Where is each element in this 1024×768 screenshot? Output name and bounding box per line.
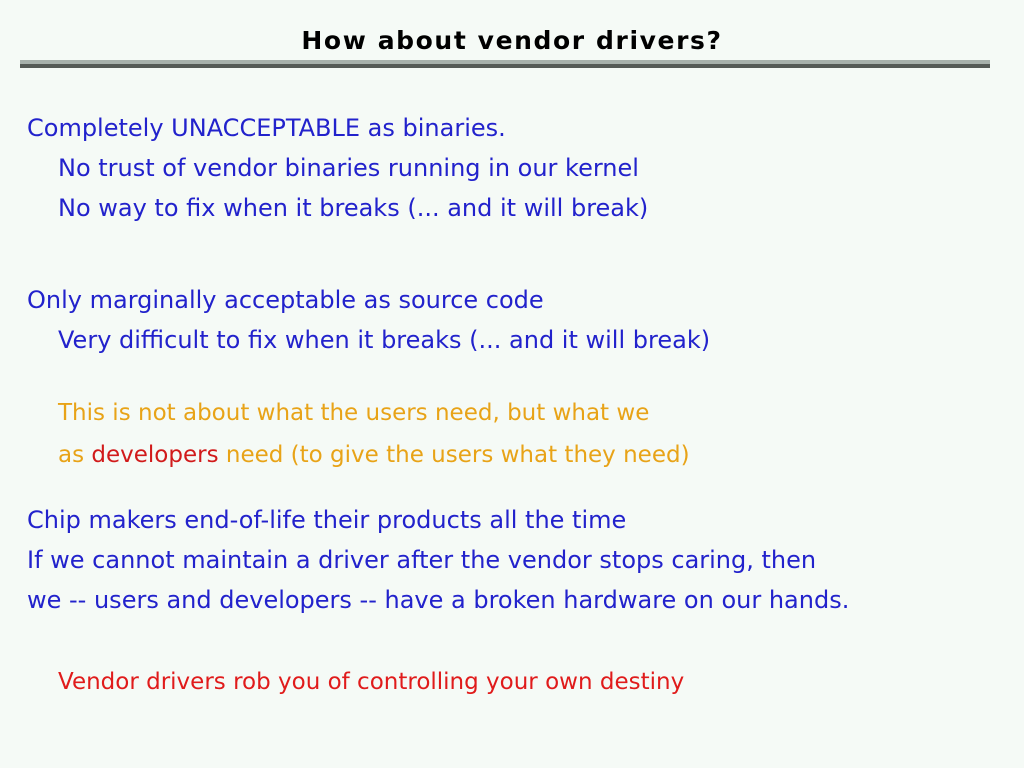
source-code-heading: Only marginally acceptable as source cod…	[0, 280, 1024, 320]
source-code-bullet-1: Very difficult to fix when it breaks (..…	[0, 320, 1024, 360]
unacceptable-bullet-2: No way to fix when it breaks (... and it…	[0, 188, 1024, 228]
block-chip-makers: Chip makers end-of-life their products a…	[0, 500, 1024, 620]
destiny-line: Vendor drivers rob you of controlling yo…	[0, 662, 1024, 702]
page-title: How about vendor drivers?	[0, 26, 1024, 55]
unacceptable-bullet-1: No trust of vendor binaries running in o…	[0, 148, 1024, 188]
callout-line-2-suffix: need (to give the users what they need)	[219, 442, 690, 468]
callout-line-1: This is not about what the users need, b…	[0, 392, 1024, 434]
unacceptable-heading: Completely UNACCEPTABLE as binaries.	[0, 108, 1024, 148]
slide-body: Completely UNACCEPTABLE as binaries. No …	[0, 108, 1024, 702]
chip-makers-line-1: Chip makers end-of-life their products a…	[0, 500, 1024, 540]
callout-emphasis-developers: developers	[91, 442, 218, 468]
block-unacceptable: Completely UNACCEPTABLE as binaries. No …	[0, 108, 1024, 228]
block-callout: This is not about what the users need, b…	[0, 392, 1024, 476]
chip-makers-line-2: If we cannot maintain a driver after the…	[0, 540, 1024, 580]
callout-line-2: as developers need (to give the users wh…	[0, 434, 1024, 476]
callout-line-2-prefix: as	[58, 442, 91, 468]
slide-canvas: How about vendor drivers? Completely UNA…	[0, 0, 1024, 768]
chip-makers-line-3: we -- users and developers -- have a bro…	[0, 580, 1024, 620]
divider-shadow	[20, 64, 990, 68]
block-source-code: Only marginally acceptable as source cod…	[0, 280, 1024, 360]
block-destiny: Vendor drivers rob you of controlling yo…	[0, 662, 1024, 702]
title-divider	[20, 60, 990, 69]
